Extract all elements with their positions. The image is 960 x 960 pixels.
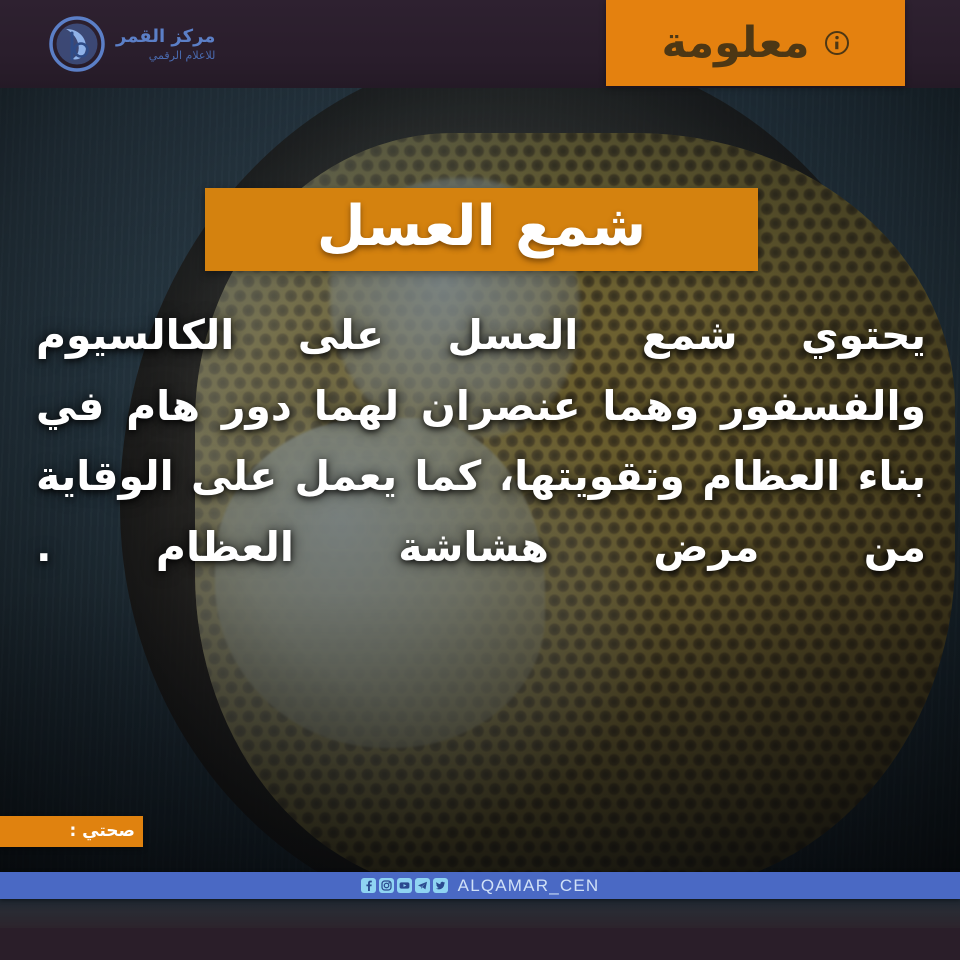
category-tag: صحتي :: [0, 816, 143, 847]
twitter-icon[interactable]: [433, 878, 448, 893]
info-badge-label: معلومة: [661, 22, 809, 65]
bottom-frame-bar: [0, 928, 960, 960]
facebook-icon[interactable]: [361, 878, 376, 893]
qamar-circular-logo-icon: [48, 15, 106, 73]
page-title: شمع العسل: [317, 199, 646, 261]
telegram-icon[interactable]: [415, 878, 430, 893]
top-header-bar: مركز القمر للاعلام الرقمي معلومة: [0, 0, 960, 88]
social-icons-group: [361, 878, 448, 893]
bottom-photo-strip: [0, 899, 960, 928]
brand-name-primary: مركز القمر: [116, 28, 215, 46]
body-text-block: يحتوي شمع العسل على الكالسيوم والفسفور و…: [36, 300, 926, 582]
category-tag-label: صحتي :: [69, 823, 135, 840]
brand-logo-text: مركز القمر للاعلام الرقمي: [116, 28, 215, 61]
title-banner: شمع العسل: [205, 188, 758, 271]
brand-logo: مركز القمر للاعلام الرقمي: [48, 12, 258, 76]
instagram-icon[interactable]: [379, 878, 394, 893]
info-badge: معلومة: [606, 0, 905, 86]
social-footer-bar: ALQAMAR_CEN: [0, 872, 960, 899]
infographic-poster: مركز القمر للاعلام الرقمي معلومة شمع الع…: [0, 0, 960, 960]
social-handle: ALQAMAR_CEN: [458, 877, 600, 894]
info-icon: [824, 30, 850, 56]
youtube-icon[interactable]: [397, 878, 412, 893]
body-paragraph: يحتوي شمع العسل على الكالسيوم والفسفور و…: [36, 300, 926, 582]
brand-name-secondary: للاعلام الرقمي: [149, 50, 216, 61]
